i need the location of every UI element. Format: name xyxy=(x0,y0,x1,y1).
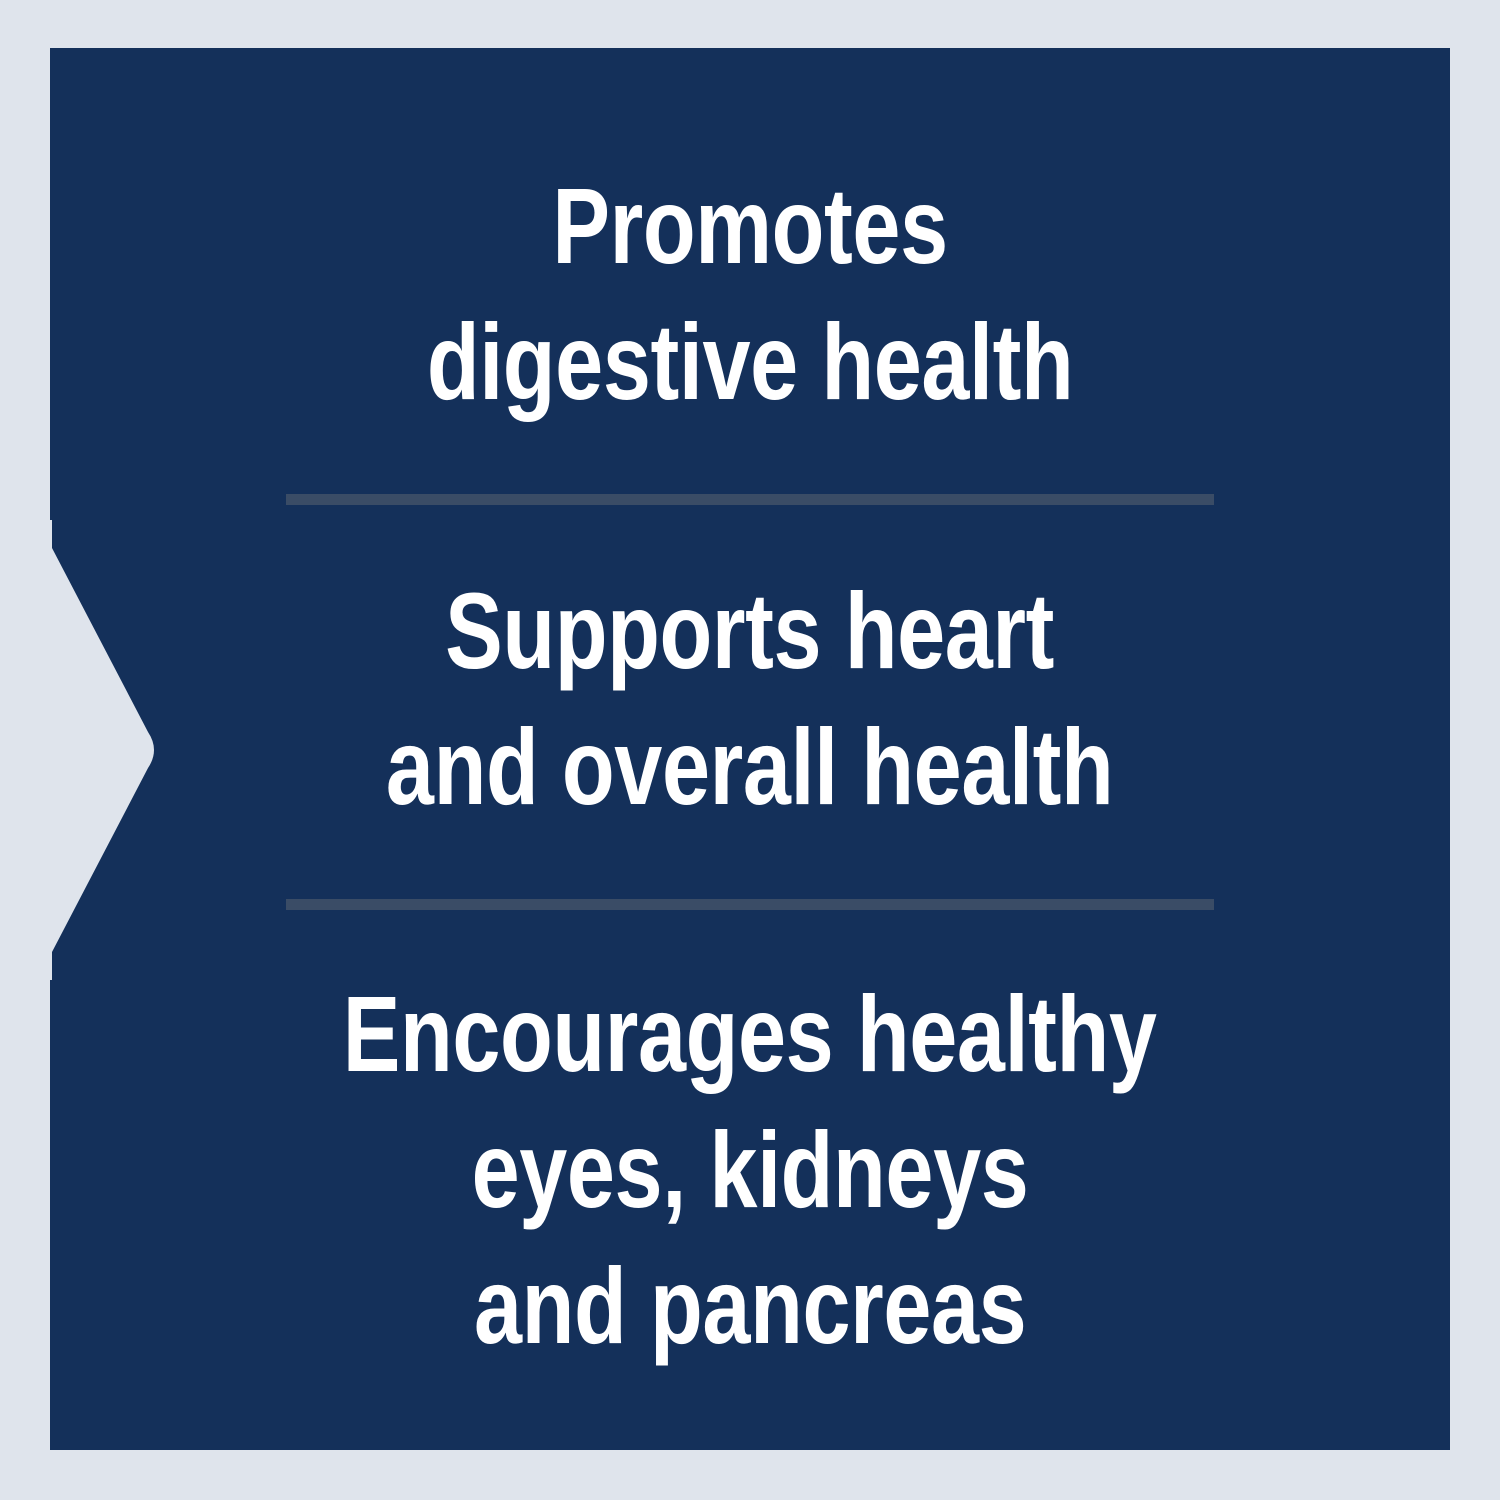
benefit-divider xyxy=(286,899,1214,910)
benefit-line: Encourages healthy xyxy=(50,966,1450,1102)
benefit-divider xyxy=(286,494,1214,505)
benefit-line: and pancreas xyxy=(50,1238,1450,1374)
infographic-root: Promotes digestive health Supports heart… xyxy=(0,0,1500,1500)
benefit-line: Supports heart xyxy=(50,563,1450,699)
benefits-content: Promotes digestive health Supports heart… xyxy=(50,48,1450,1450)
benefit-line: digestive health xyxy=(50,294,1450,430)
benefit-line: eyes, kidneys xyxy=(50,1102,1450,1238)
benefit-promotes-digestive-health: Promotes digestive health xyxy=(50,158,1450,430)
benefit-line: and overall health xyxy=(50,699,1450,835)
benefit-supports-heart-and-overall-health: Supports heart and overall health xyxy=(50,563,1450,835)
benefit-line: Promotes xyxy=(50,158,1450,294)
benefit-encourages-healthy-eyes-kidneys-and-pancreas: Encourages healthy eyes, kidneys and pan… xyxy=(50,966,1450,1374)
